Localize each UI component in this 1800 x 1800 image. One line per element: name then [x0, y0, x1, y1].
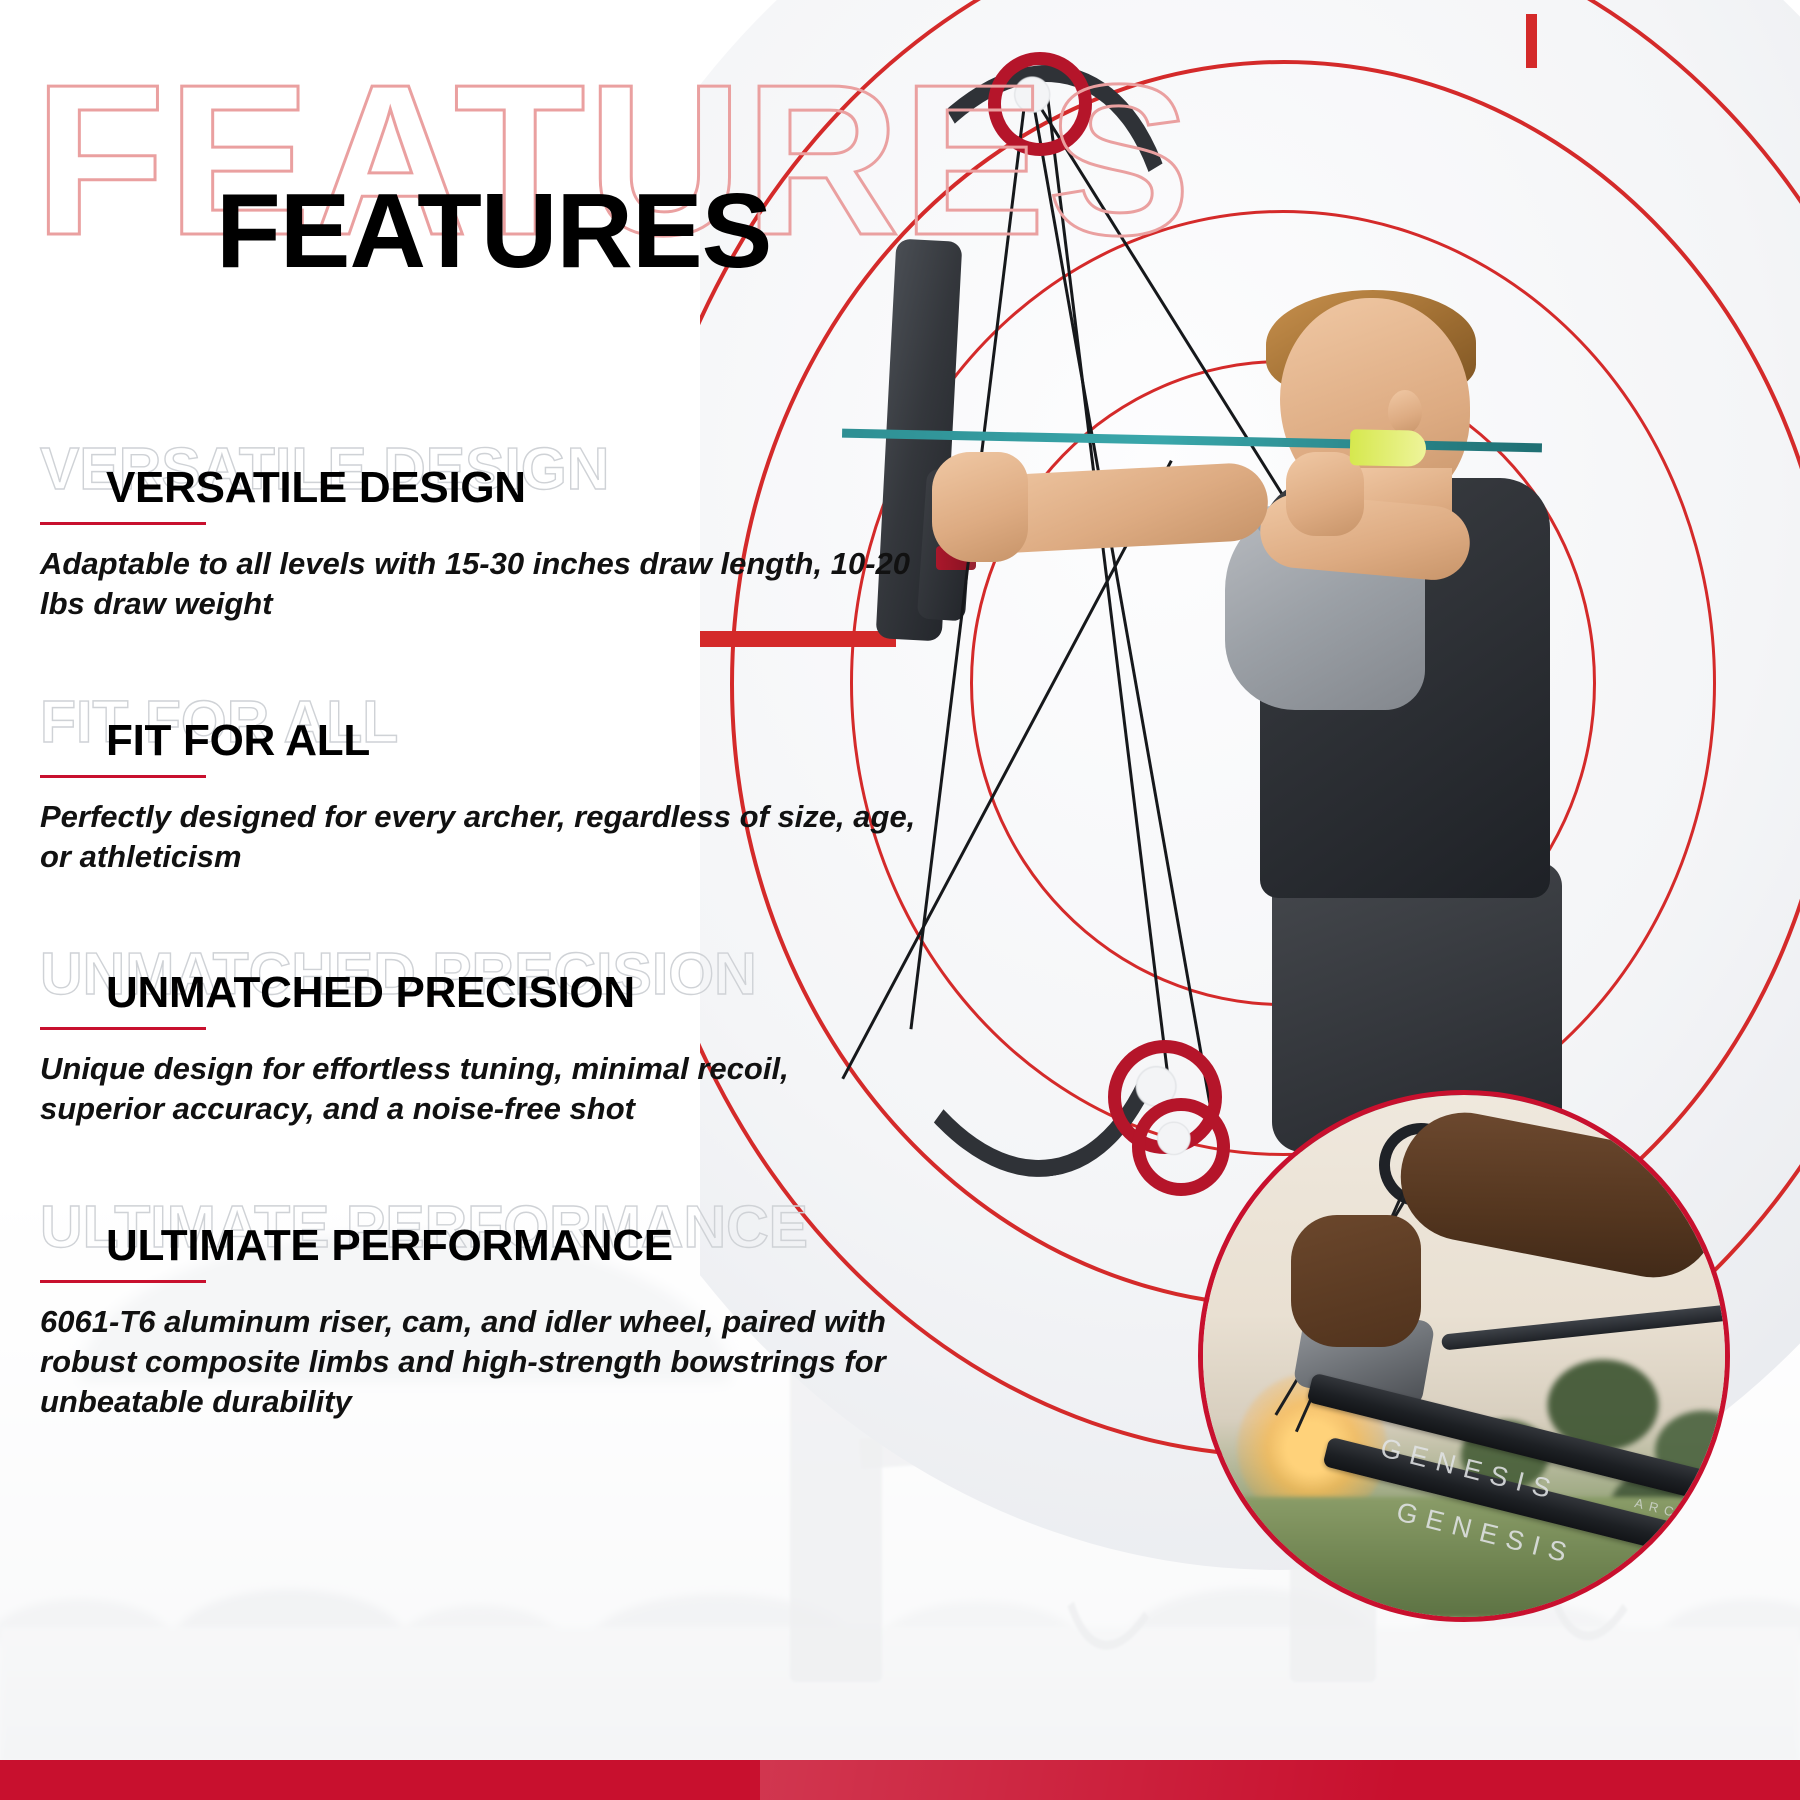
feature-list: VERSATILE DESIGN VERSATILE DESIGN Adapta…: [40, 430, 920, 1473]
feature-body: Unique design for effortless tuning, min…: [40, 1049, 920, 1130]
footer-bar: [0, 1760, 1800, 1800]
feature-heading-wrap: VERSATILE DESIGN VERSATILE DESIGN: [40, 430, 920, 522]
page-title-block: FEATURES FEATURES: [0, 0, 1400, 330]
feature-body: 6061-T6 aluminum riser, cam, and idler w…: [40, 1302, 920, 1423]
feature-item-versatile-design: VERSATILE DESIGN VERSATILE DESIGN Adapta…: [40, 430, 920, 625]
feature-title: VERSATILE DESIGN: [106, 466, 526, 510]
feature-item-fit-for-all: FIT FOR ALL FIT FOR ALL Perfectly design…: [40, 683, 920, 878]
feature-infographic-page: GENESIS GENESIS ARCHERY ARCHERY FEATURES…: [0, 0, 1800, 1800]
feature-title: ULTIMATE PERFORMANCE: [106, 1224, 673, 1268]
feature-heading-wrap: UNMATCHED PRECISION UNMATCHED PRECISION: [40, 935, 920, 1027]
page-title: FEATURES: [216, 178, 771, 284]
footer-bar-sheen: [760, 1760, 1400, 1800]
feature-heading-wrap: FIT FOR ALL FIT FOR ALL: [40, 683, 920, 775]
feature-underline: [40, 775, 206, 778]
feature-heading-wrap: ULTIMATE PERFORMANCE ULTIMATE PERFORMANC…: [40, 1188, 920, 1280]
inset-closeup-photo: GENESIS GENESIS ARCHERY ARCHERY: [1198, 1090, 1730, 1622]
archer-ear: [1388, 390, 1422, 434]
feature-item-unmatched-precision: UNMATCHED PRECISION UNMATCHED PRECISION …: [40, 935, 920, 1130]
feature-item-ultimate-performance: ULTIMATE PERFORMANCE ULTIMATE PERFORMANC…: [40, 1188, 920, 1423]
inset-fist: [1291, 1215, 1421, 1347]
feature-underline: [40, 522, 206, 525]
archer-bow-hand: [932, 452, 1028, 562]
arrow-vane: [1350, 429, 1427, 467]
feature-body: Adaptable to all levels with 15-30 inche…: [40, 544, 920, 625]
feature-underline: [40, 1280, 206, 1283]
feature-body: Perfectly designed for every archer, reg…: [40, 797, 920, 878]
feature-title: FIT FOR ALL: [106, 719, 370, 763]
feature-underline: [40, 1027, 206, 1030]
feature-title: UNMATCHED PRECISION: [106, 971, 635, 1015]
